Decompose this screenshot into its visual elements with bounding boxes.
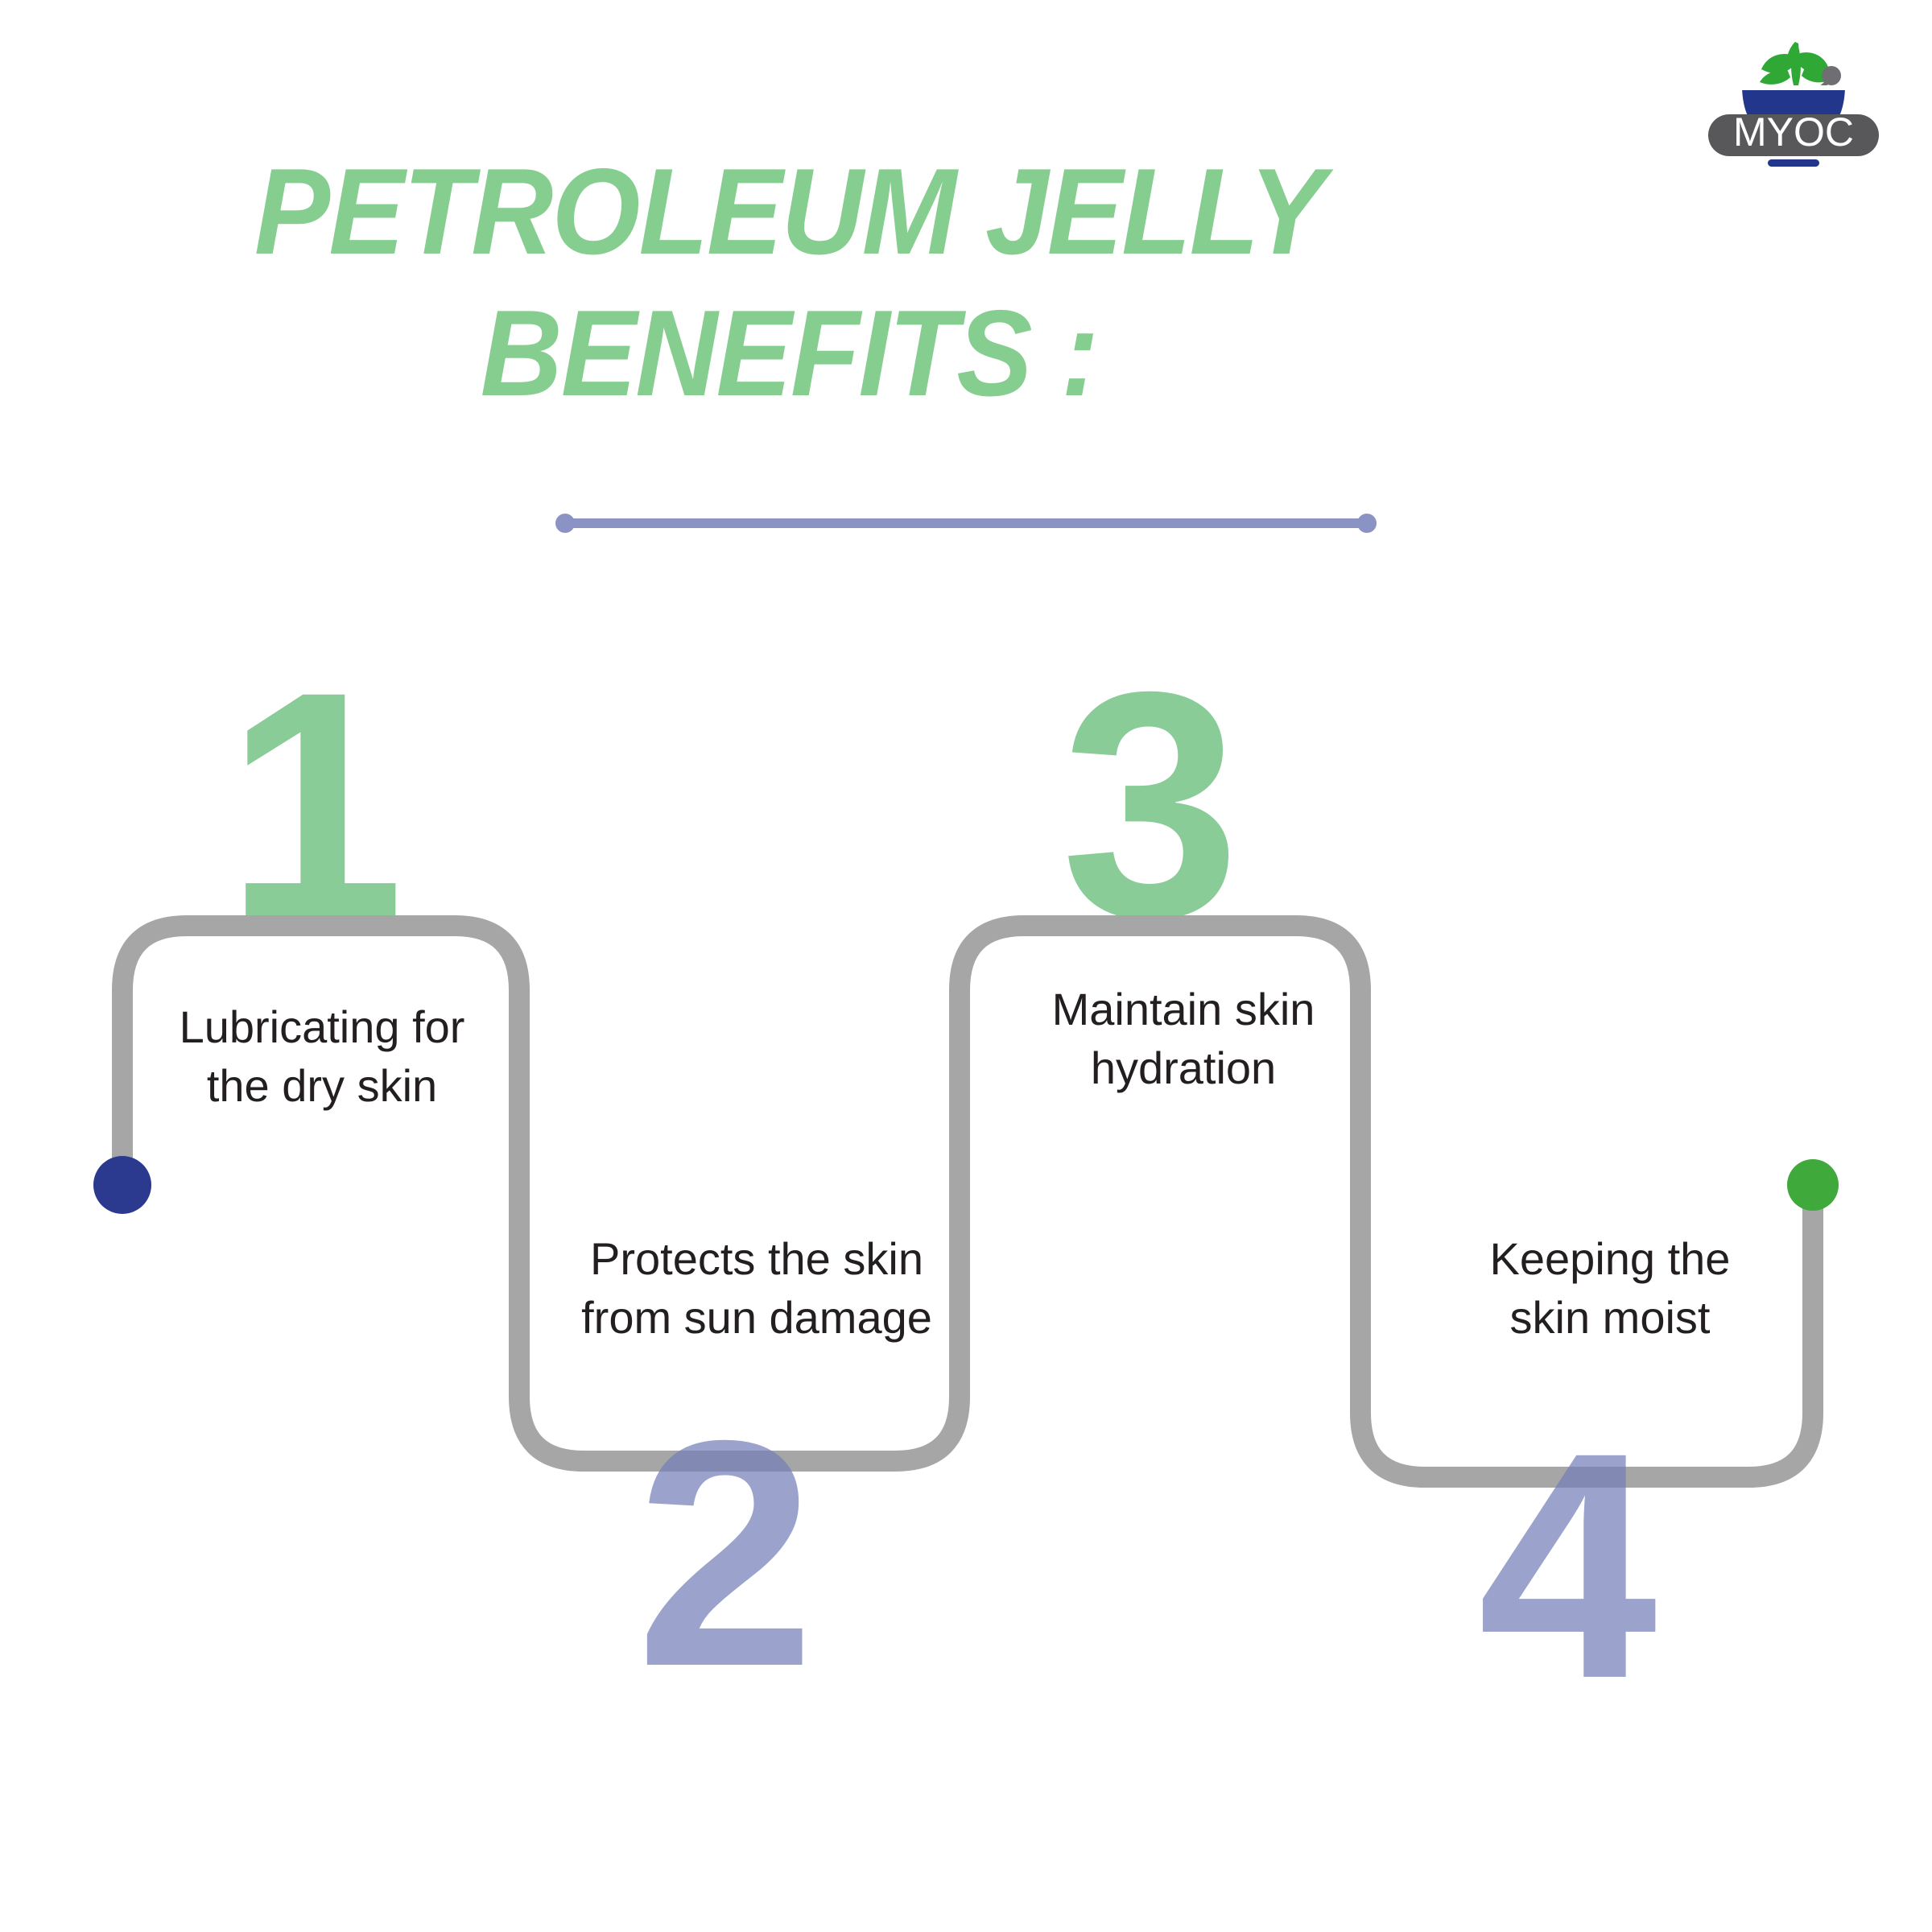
step-label-2: Protects the skin from sun damage <box>547 1230 966 1348</box>
step-label-1: Lubricating for the dry skin <box>121 998 523 1116</box>
step-label-3: Maintain skin hydration <box>998 980 1368 1098</box>
step-label-4: Keeping the skin moist <box>1417 1230 1803 1348</box>
flow-end-dot-icon <box>1787 1159 1839 1211</box>
flow-start-dot-icon <box>93 1156 151 1214</box>
infographic-canvas: MYOC PETROLEUM JELLY BENEFITS : 1 3 2 4 … <box>0 0 1932 1932</box>
step-number-2: 2 <box>636 1393 808 1715</box>
step-number-4: 4 <box>1478 1405 1650 1727</box>
